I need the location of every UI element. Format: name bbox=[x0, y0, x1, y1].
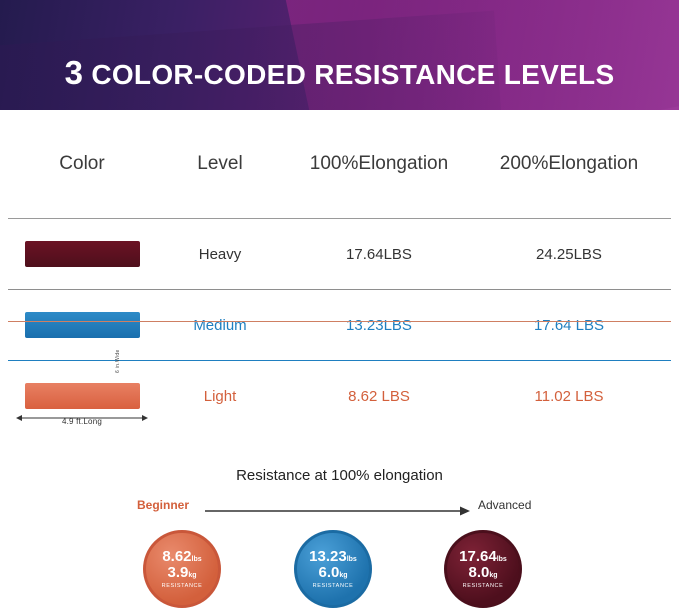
column-header-100-elongation: 100%Elongation bbox=[284, 153, 474, 175]
level-medium: Medium bbox=[156, 317, 284, 334]
band-graphic-light bbox=[25, 383, 140, 409]
circle-value-lbs-heavy: 17.64lbs bbox=[459, 549, 507, 565]
scale-label-beginner: Beginner bbox=[137, 498, 189, 512]
resistance-circle-light: 8.62lbs 3.9kg RESISTANCE bbox=[143, 530, 221, 608]
page-title: 3 COLOR-CODED RESISTANCE LEVELS bbox=[0, 54, 679, 92]
circle-unit2-light: kg bbox=[188, 572, 196, 579]
table-row: Medium 13.23LBS 17.64 LBS bbox=[8, 290, 671, 361]
elongation200-medium: 17.64 LBS bbox=[474, 317, 664, 334]
circle-value-lbs-medium: 13.23lbs bbox=[309, 549, 357, 565]
elongation200-heavy: 24.25LBS bbox=[474, 246, 664, 263]
elongation100-medium: 13.23LBS bbox=[284, 317, 474, 334]
circle-value2-medium: 6.0 bbox=[318, 564, 339, 581]
circle-value1-light: 8.62 bbox=[162, 548, 191, 565]
dimension-length-label: 4.9 ft.Long bbox=[16, 417, 148, 426]
circle-caption-medium: RESISTANCE bbox=[313, 583, 354, 589]
column-header-200-elongation: 200%Elongation bbox=[474, 153, 664, 175]
color-swatch-light: 6 in.Wide 4.9 ft.Long bbox=[8, 383, 156, 409]
circle-value-lbs-light: 8.62lbs bbox=[162, 549, 201, 565]
circle-unit2-medium: kg bbox=[339, 572, 347, 579]
circle-value-kg-heavy: 8.0kg bbox=[468, 565, 497, 581]
elongation100-light: 8.62 LBS bbox=[284, 388, 474, 405]
column-header-level: Level bbox=[156, 153, 284, 175]
table-row: 6 in.Wide 4.9 ft.Long Light 8.62 LBS 11.… bbox=[8, 361, 671, 431]
band-graphic-medium bbox=[25, 312, 140, 338]
circle-value2-light: 3.9 bbox=[167, 564, 188, 581]
level-light: Light bbox=[156, 388, 284, 405]
circle-unit1-light: lbs bbox=[192, 556, 202, 563]
circle-caption-heavy: RESISTANCE bbox=[463, 583, 504, 589]
resistance-table: Color Level 100%Elongation 200%Elongatio… bbox=[0, 110, 679, 431]
column-header-color: Color bbox=[8, 153, 156, 175]
page-title-number: 3 bbox=[65, 54, 84, 91]
level-heavy: Heavy bbox=[156, 246, 284, 263]
right-arrow-icon bbox=[205, 506, 470, 516]
table-header-row: Color Level 100%Elongation 200%Elongatio… bbox=[8, 110, 671, 219]
scale-label-advanced: Advanced bbox=[478, 498, 531, 512]
resistance-circle-heavy: 17.64lbs 8.0kg RESISTANCE bbox=[444, 530, 522, 608]
band-graphic-heavy bbox=[25, 241, 140, 267]
color-swatch-heavy bbox=[8, 241, 156, 267]
circle-unit1-heavy: lbs bbox=[497, 556, 507, 563]
circle-value1-medium: 13.23 bbox=[309, 548, 347, 565]
row-divider-light bbox=[8, 321, 671, 322]
circle-unit1-medium: lbs bbox=[347, 556, 357, 563]
circle-value-kg-light: 3.9kg bbox=[167, 565, 196, 581]
circle-value-kg-medium: 6.0kg bbox=[318, 565, 347, 581]
dimension-width-label: 6 in.Wide bbox=[115, 349, 121, 373]
resistance-scale-section: Resistance at 100% elongation Beginner A… bbox=[0, 455, 679, 603]
circle-caption-light: RESISTANCE bbox=[162, 583, 203, 589]
elongation200-light: 11.02 LBS bbox=[474, 388, 664, 405]
header-banner: 3 COLOR-CODED RESISTANCE LEVELS bbox=[0, 0, 679, 110]
color-swatch-medium bbox=[8, 312, 156, 338]
circle-unit2-heavy: kg bbox=[489, 572, 497, 579]
resistance-scale-title: Resistance at 100% elongation bbox=[0, 467, 679, 484]
page-title-text: COLOR-CODED RESISTANCE LEVELS bbox=[83, 59, 614, 90]
elongation100-heavy: 17.64LBS bbox=[284, 246, 474, 263]
resistance-circles: 8.62lbs 3.9kg RESISTANCE 13.23lbs 6.0kg … bbox=[0, 530, 679, 603]
circle-value1-heavy: 17.64 bbox=[459, 548, 497, 565]
table-row: Heavy 17.64LBS 24.25LBS bbox=[8, 219, 671, 290]
circle-value2-heavy: 8.0 bbox=[468, 564, 489, 581]
resistance-circle-medium: 13.23lbs 6.0kg RESISTANCE bbox=[294, 530, 372, 608]
